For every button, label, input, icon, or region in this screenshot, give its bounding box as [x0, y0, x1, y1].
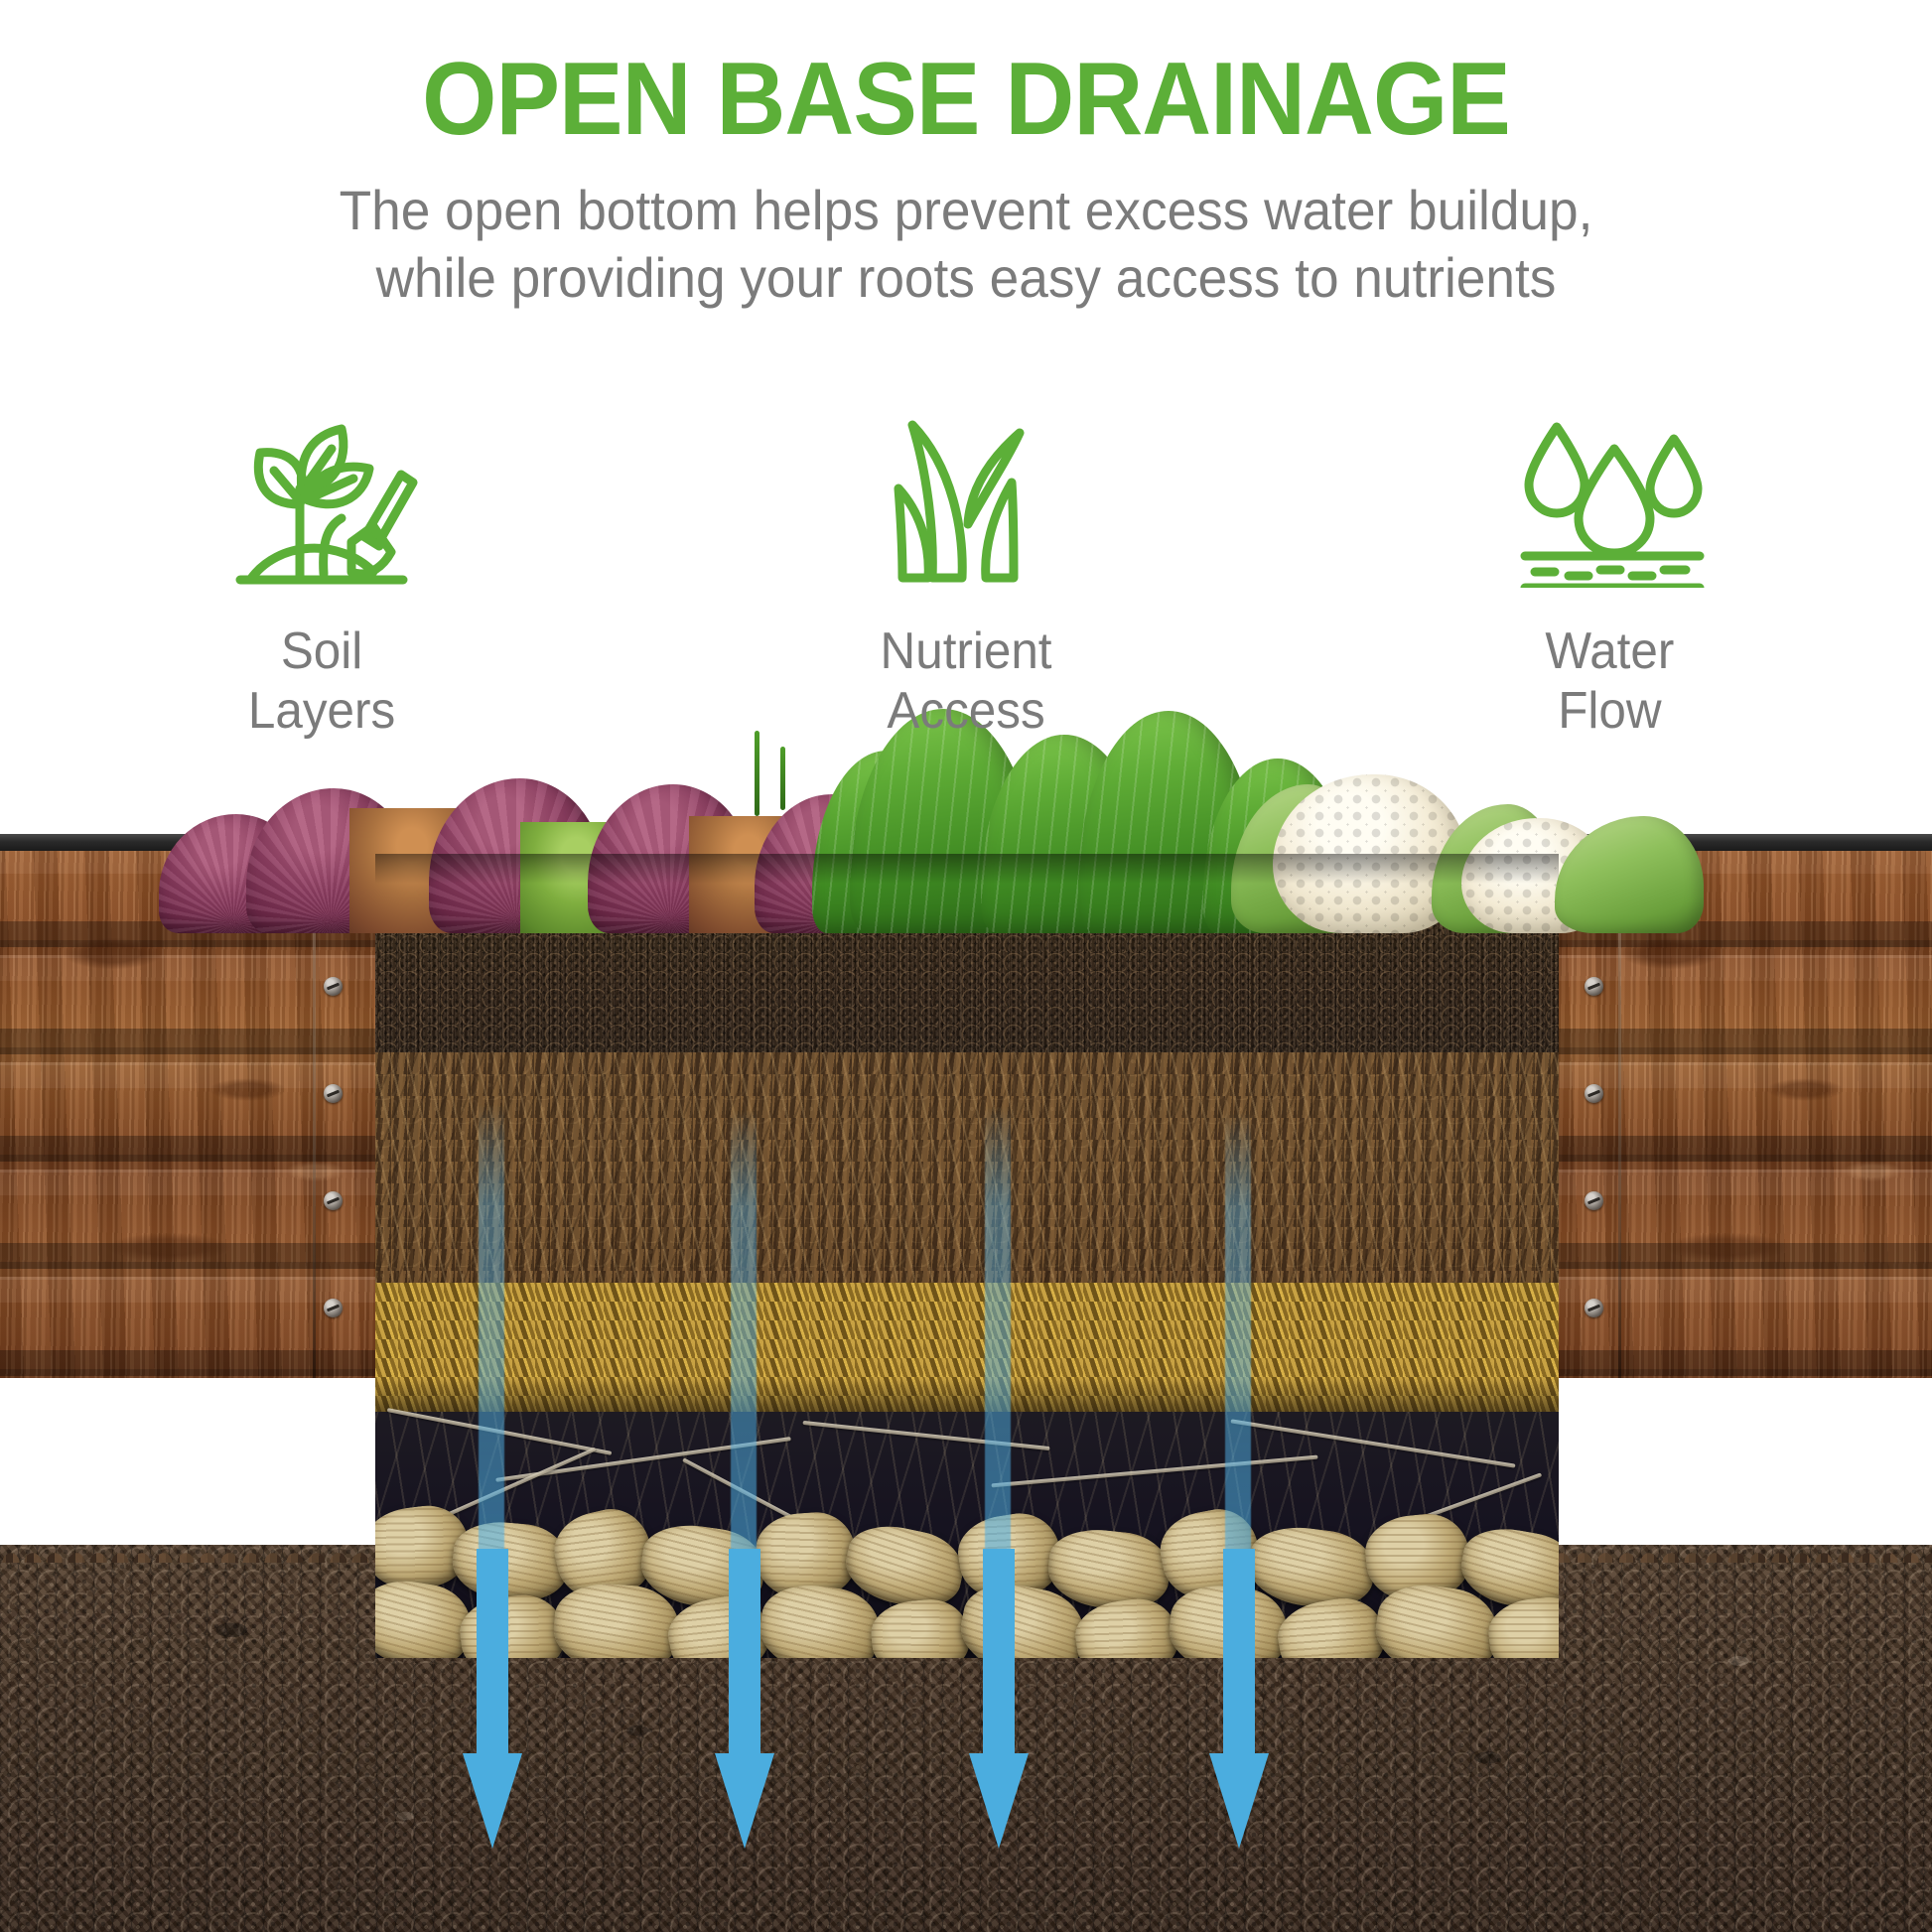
feature-nutrient-access: Nutrient Access [644, 389, 1289, 742]
panel-screw [1585, 1191, 1603, 1210]
header: OPEN BASE DRAINAGE The open bottom helps… [0, 0, 1932, 313]
page-subtitle: The open bottom helps prevent excess wat… [49, 153, 1884, 313]
feature-water-flow: Water Flow [1288, 389, 1932, 742]
feature-label-line-1: Nutrient [881, 621, 1052, 681]
panel-screw [324, 1299, 343, 1317]
water-flow-arrow [1209, 1549, 1269, 1847]
feature-label-line-2: Layers [248, 681, 395, 741]
feature-soil-layers: Soil Layers [0, 389, 644, 742]
plant-sprig [780, 747, 785, 810]
arrow-head [1209, 1753, 1269, 1849]
soil-layer-mulch [375, 1052, 1559, 1283]
water-drops-ground-icon [1511, 389, 1710, 588]
grass-blades-icon [877, 389, 1055, 588]
subtitle-line-2: while providing your roots easy access t… [49, 244, 1884, 312]
soil-cross-section [375, 864, 1559, 1658]
water-flow-arrows [375, 1549, 1559, 1876]
plant-soil-contact-shadow [375, 854, 1559, 884]
arrow-shaft [1223, 1549, 1255, 1755]
panel-screw [324, 1084, 343, 1103]
feature-label-line-2: Access [881, 681, 1052, 741]
feature-label-nutrient-access: Nutrient Access [881, 621, 1052, 742]
feature-label-soil-layers: Soil Layers [248, 621, 395, 742]
water-flow-arrow [969, 1549, 1029, 1847]
arrow-shaft [983, 1549, 1015, 1755]
water-flow-arrow [463, 1549, 522, 1847]
panel-screw [324, 977, 343, 996]
panel-screw [1585, 1299, 1603, 1317]
arrow-head [715, 1753, 774, 1849]
branch-stick [802, 1421, 1049, 1450]
feature-label-line-2: Flow [1546, 681, 1675, 741]
feature-label-water-flow: Water Flow [1546, 621, 1675, 742]
feature-label-line-1: Water [1546, 621, 1675, 681]
feature-label-line-1: Soil [248, 621, 395, 681]
subtitle-line-1: The open bottom helps prevent excess wat… [49, 177, 1884, 244]
arrow-shaft [477, 1549, 508, 1755]
panel-screw [1585, 977, 1603, 996]
plant-sprig [755, 731, 759, 816]
arrow-head [969, 1753, 1029, 1849]
seedling-shovel-icon [224, 389, 419, 588]
water-flow-arrow [715, 1549, 774, 1847]
panel-screw [324, 1191, 343, 1210]
feature-row: Soil Layers Nutrient Acces [0, 389, 1932, 742]
infographic-page: OPEN BASE DRAINAGE The open bottom helps… [0, 0, 1932, 1932]
soil-layer-straw [375, 1283, 1559, 1412]
arrow-head [463, 1753, 522, 1849]
branch-stick [991, 1455, 1317, 1488]
page-title: OPEN BASE DRAINAGE [68, 0, 1864, 153]
panel-screw [1585, 1084, 1603, 1103]
arrow-shaft [729, 1549, 760, 1755]
